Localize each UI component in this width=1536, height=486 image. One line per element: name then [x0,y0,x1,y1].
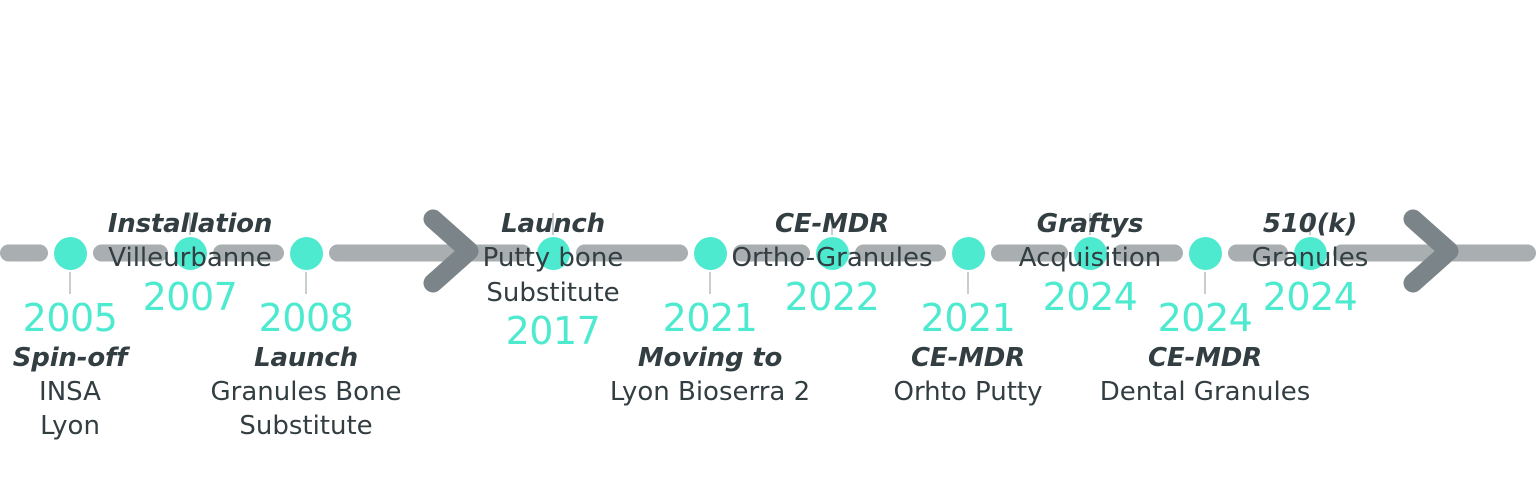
milestone-title: Installation [108,207,272,241]
milestone-connector [1204,272,1206,294]
milestone-title: Launch [211,341,402,375]
milestone-description: Granules [1252,241,1369,275]
rail-arrow-icon [1399,209,1465,297]
milestone-description: Ortho-Granules [731,241,932,275]
milestone-description: Acquisition [1019,241,1161,275]
milestone-description-line: Orhto Putty [893,375,1042,409]
milestone-description: Orhto Putty [893,375,1042,409]
milestone-connector [69,272,71,294]
milestone-title: CE-MDR [731,207,932,241]
milestone-description-line: Granules Bone [211,375,402,409]
milestone-dot[interactable] [290,237,323,270]
milestone-description: Villeurbanne [108,241,272,275]
milestone-description-line: Ortho-Granules [731,241,932,275]
milestone-description: Putty boneSubstitute [483,241,624,310]
milestone-year: 2024 [1252,276,1369,320]
milestone-description-line: Lyon [13,409,127,443]
milestone-description: Lyon Bioserra 2 [610,375,810,409]
milestone-description-line: Substitute [211,409,402,443]
timeline-infographic: 2005Spin-offINSALyonInstallationVilleurb… [0,0,1536,486]
milestone-title: CE-MDR [1100,341,1311,375]
milestone-year: 2017 [483,310,624,354]
milestone-connector [967,272,969,294]
milestone-description-line: INSA [13,375,127,409]
milestone-description: Granules BoneSubstitute [211,375,402,444]
milestone-entry: 510(k)Granules2024 [1252,207,1369,319]
milestone-description-line: Granules [1252,241,1369,275]
rail-arrow-icon [419,209,485,297]
milestone-dot[interactable] [1189,237,1222,270]
milestone-description-line: Acquisition [1019,241,1161,275]
milestone-entry: LaunchPutty boneSubstitute2017 [483,207,624,354]
milestone-connector [709,272,711,294]
milestone-description-line: Putty bone [483,241,624,275]
milestone-dot[interactable] [952,237,985,270]
rail-segment [0,245,48,262]
milestone-description: INSALyon [13,375,127,444]
milestone-description-line: Lyon Bioserra 2 [610,375,810,409]
milestone-title: 510(k) [1252,207,1369,241]
milestone-description-line: Dental Granules [1100,375,1311,409]
milestone-description-line: Substitute [483,276,624,310]
milestone-dot[interactable] [694,237,727,270]
milestone-description: Dental Granules [1100,375,1311,409]
milestone-title: Moving to [610,341,810,375]
milestone-title: Launch [483,207,624,241]
milestone-title: Graftys [1019,207,1161,241]
milestone-dot[interactable] [54,237,87,270]
milestone-title: Spin-off [13,341,127,375]
milestone-entry: 2008LaunchGranules BoneSubstitute [211,297,402,444]
milestone-title: CE-MDR [893,341,1042,375]
milestone-year: 2008 [211,297,402,341]
milestone-description-line: Villeurbanne [108,241,272,275]
milestone-connector [305,272,307,294]
